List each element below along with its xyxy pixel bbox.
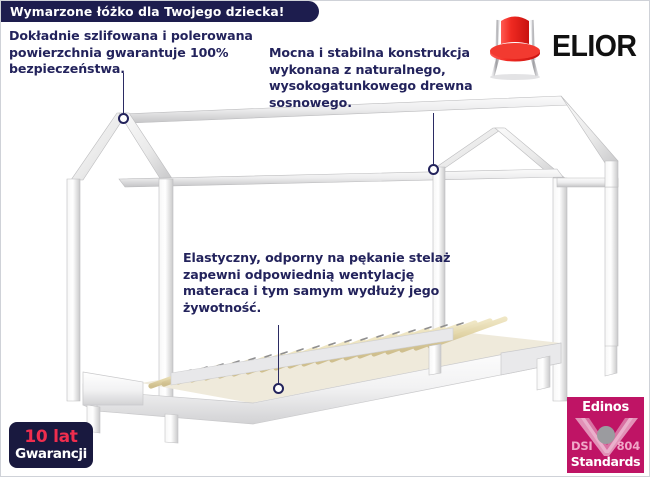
brand-logo: ELIOR — [484, 9, 644, 81]
callout-marker-1 — [118, 113, 129, 124]
headline-text: Wymarzone łóżko dla Twojego dziecka! — [10, 5, 285, 19]
callout-text-construction: Mocna i stabilna konstrukcja wykonana z … — [269, 45, 499, 111]
leader-line-1 — [123, 73, 124, 115]
edinos-code-left: DSI — [571, 439, 593, 453]
leader-line-2 — [433, 113, 434, 166]
headline-banner: Wymarzone łóżko dla Twojego dziecka! — [1, 1, 319, 22]
warranty-badge: 10 lat Gwarancji — [9, 422, 93, 468]
edinos-standards-badge: Edinos DSI 804 Standards — [567, 397, 644, 473]
promo-image: Wymarzone łóżko dla Twojego dziecka! Dok… — [0, 0, 650, 477]
red-chair-icon — [484, 10, 546, 80]
callout-text-slats: Elastyczny, odporny na pękanie stelaż za… — [183, 250, 453, 316]
leader-line-3 — [278, 325, 279, 385]
warranty-years: 10 lat — [24, 429, 77, 447]
brand-wordmark: ELIOR — [552, 30, 636, 61]
edinos-code-right: 804 — [617, 439, 640, 453]
callout-text-sanding: Dokładnie szlifowana i polerowana powier… — [9, 28, 271, 78]
warranty-label: Gwarancji — [15, 447, 87, 462]
edinos-title: Edinos — [567, 400, 644, 415]
callout-marker-2 — [428, 164, 439, 175]
callout-marker-3 — [273, 383, 284, 394]
edinos-subtitle: Standards — [567, 454, 644, 469]
